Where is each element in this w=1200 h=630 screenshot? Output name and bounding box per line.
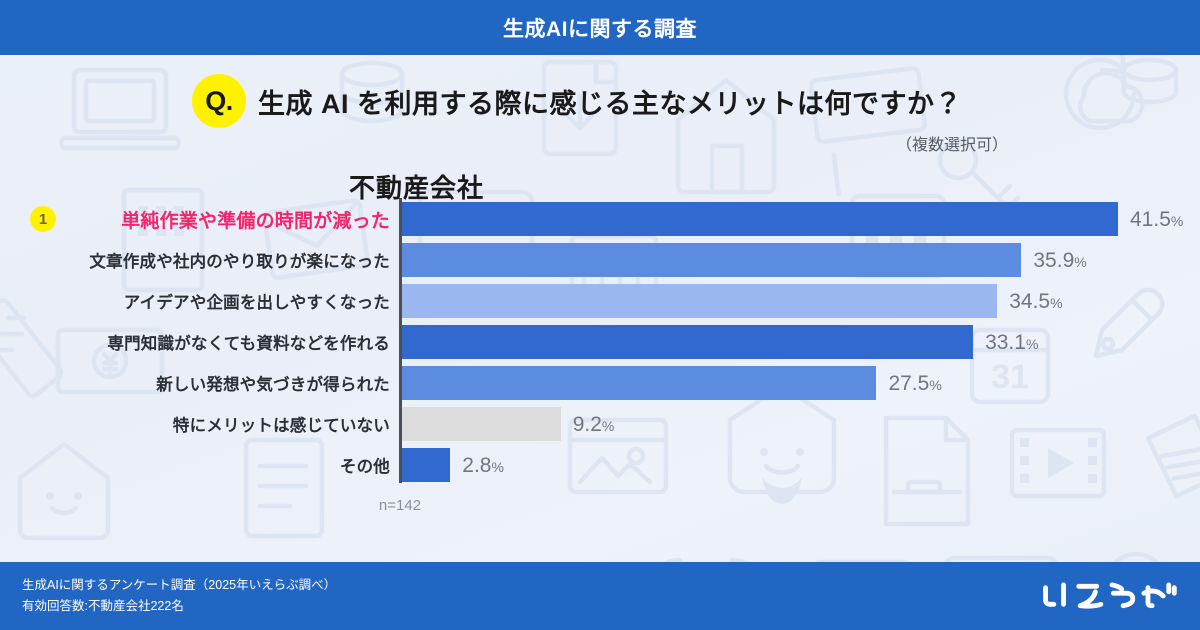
category-label: アイデアや企画を出しやすくなった [0, 289, 390, 313]
value-label: 33.1% [985, 332, 1038, 353]
sample-size-label: n=142 [340, 497, 460, 514]
question-note: （複数選択可） [0, 131, 1008, 155]
category-label: 特にメリットは感じていない [0, 412, 390, 436]
value-label: 9.2% [573, 414, 615, 435]
bar [402, 448, 450, 482]
ielove-logo[interactable] [1040, 578, 1178, 614]
value-label: 27.5% [888, 373, 941, 394]
category-label: 専門知識がなくても資料などを作れる [0, 330, 390, 354]
question-badge-label: Q. [205, 88, 233, 115]
category-label: 新しい発想や気づきが得られた [0, 371, 390, 395]
question-row: Q. 生成 AI を利用する際に感じる主なメリットは何ですか？ [0, 74, 1200, 128]
footer-source-text: 生成AIに関するアンケート調査（2025年いえらぶ調べ） 有効回答数:不動産会社… [22, 575, 336, 616]
footer-line-1: 生成AIに関するアンケート調査（2025年いえらぶ調べ） [22, 575, 336, 596]
bar-row: 専門知識がなくても資料などを作れる33.1% [0, 325, 1200, 359]
bar-row: アイデアや企画を出しやすくなった34.5% [0, 284, 1200, 318]
footer-line-2: 有効回答数:不動産会社222名 [22, 596, 336, 617]
bar-row: その他2.8% [0, 448, 1200, 482]
bar [402, 243, 1021, 277]
bar [402, 202, 1118, 236]
bar [402, 325, 973, 359]
bar [402, 284, 997, 318]
bar-row: 新しい発想や気づきが得られた27.5% [0, 366, 1200, 400]
page-footer: 生成AIに関するアンケート調査（2025年いえらぶ調べ） 有効回答数:不動産会社… [0, 562, 1200, 630]
bar-row: 文章作成や社内のやり取りが楽になった35.9% [0, 243, 1200, 277]
header-title: 生成AIに関する調査 [503, 13, 697, 43]
value-label: 35.9% [1033, 250, 1086, 271]
value-label: 41.5% [1130, 209, 1183, 230]
bar-row: 特にメリットは感じていない9.2% [0, 407, 1200, 441]
infographic-page: 31 [0, 0, 1200, 630]
value-label: 34.5% [1009, 291, 1062, 312]
bar-row: 1単純作業や準備の時間が減った41.5% [0, 202, 1200, 236]
value-label: 2.8% [462, 455, 504, 476]
bar-chart: 1単純作業や準備の時間が減った41.5%文章作成や社内のやり取りが楽になった35… [0, 198, 1200, 483]
question-badge: Q. [192, 74, 246, 128]
category-label: 文章作成や社内のやり取りが楽になった [0, 248, 390, 272]
bar [402, 366, 876, 400]
category-label: その他 [0, 453, 390, 477]
category-axis-line [399, 198, 402, 483]
question-text: 生成 AI を利用する際に感じる主なメリットは何ですか？ [258, 82, 962, 121]
bar [402, 407, 561, 441]
page-header: 生成AIに関する調査 [0, 0, 1200, 55]
category-label: 単純作業や準備の時間が減った [0, 206, 390, 233]
